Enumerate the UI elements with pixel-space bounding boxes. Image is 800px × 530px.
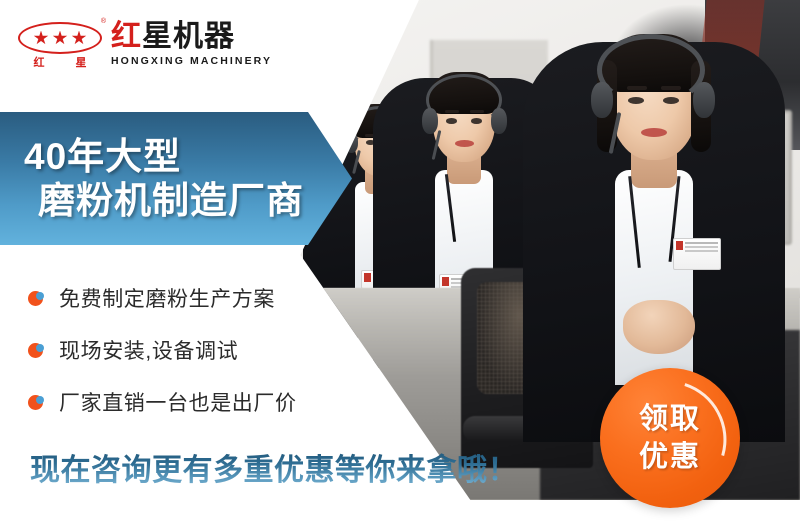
agent-hands xyxy=(623,300,695,354)
list-item-label: 厂家直销一台也是出厂价 xyxy=(59,387,297,417)
star-icon-3 xyxy=(72,31,87,46)
headline-banner-text: 40年大型 磨粉机制造厂商 xyxy=(0,112,352,245)
bullet-dot-icon xyxy=(28,395,43,410)
logo-sub-char-xing: 星 xyxy=(76,54,87,70)
star-icon-2 xyxy=(53,31,68,46)
logo-sub-char-hong: 红 xyxy=(34,54,45,70)
promo-footer-headline: 现在咨询更有多重优惠等你来拿哦！ xyxy=(30,445,518,489)
headset-earcup-right xyxy=(491,108,507,134)
brand-name-cn-rest: 星机器 xyxy=(142,20,235,53)
list-item: 免费制定磨粉生产方案 xyxy=(28,272,358,324)
bullet-dot-icon xyxy=(28,291,43,306)
headline-line-2: 磨粉机制造厂商 xyxy=(24,179,352,223)
headset-earcup-right xyxy=(693,82,715,118)
agent-lips xyxy=(455,140,474,147)
brand-logo[interactable]: ® 红 星 红星机器 HONGXING MACHINERY xyxy=(18,18,272,70)
list-item-label: 现场安装,设备调试 xyxy=(59,335,238,365)
brand-name-cn: 红星机器 xyxy=(111,21,272,53)
list-item-label: 免费制定磨粉生产方案 xyxy=(59,283,275,313)
logo-sub-characters: 红 星 xyxy=(18,54,102,70)
logo-star-group xyxy=(18,22,102,54)
feature-list: 免费制定磨粉生产方案 现场安装,设备调试 厂家直销一台也是出厂价 xyxy=(28,272,358,428)
headset-earcup-left xyxy=(591,82,613,118)
claim-offer-button[interactable]: 领取 优惠 xyxy=(600,368,740,508)
agent-id-badge xyxy=(673,238,721,270)
headline-line-1: 40年大型 xyxy=(24,135,352,179)
promo-banner: ® 红 星 红星机器 HONGXING MACHINERY 40年大型 磨粉机制… xyxy=(0,0,800,530)
agent-lips xyxy=(641,128,667,137)
list-item: 厂家直销一台也是出厂价 xyxy=(28,376,358,428)
brand-name-en: HONGXING MACHINERY xyxy=(111,55,272,67)
star-icon-1 xyxy=(34,31,49,46)
bullet-dot-icon xyxy=(28,343,43,358)
brand-name-cn-first: 红 xyxy=(111,20,142,53)
brand-wordmark: 红星机器 HONGXING MACHINERY xyxy=(111,21,272,67)
list-item: 现场安装,设备调试 xyxy=(28,324,358,376)
registered-trademark-icon: ® xyxy=(101,18,106,25)
headset-earcup-left xyxy=(422,108,438,134)
hongxing-three-star-emblem-icon: ® 红 星 xyxy=(18,18,102,70)
cta-label-line-2: 优惠 xyxy=(639,438,701,476)
headset-band-icon xyxy=(597,34,705,106)
cta-label-line-1: 领取 xyxy=(639,400,701,438)
